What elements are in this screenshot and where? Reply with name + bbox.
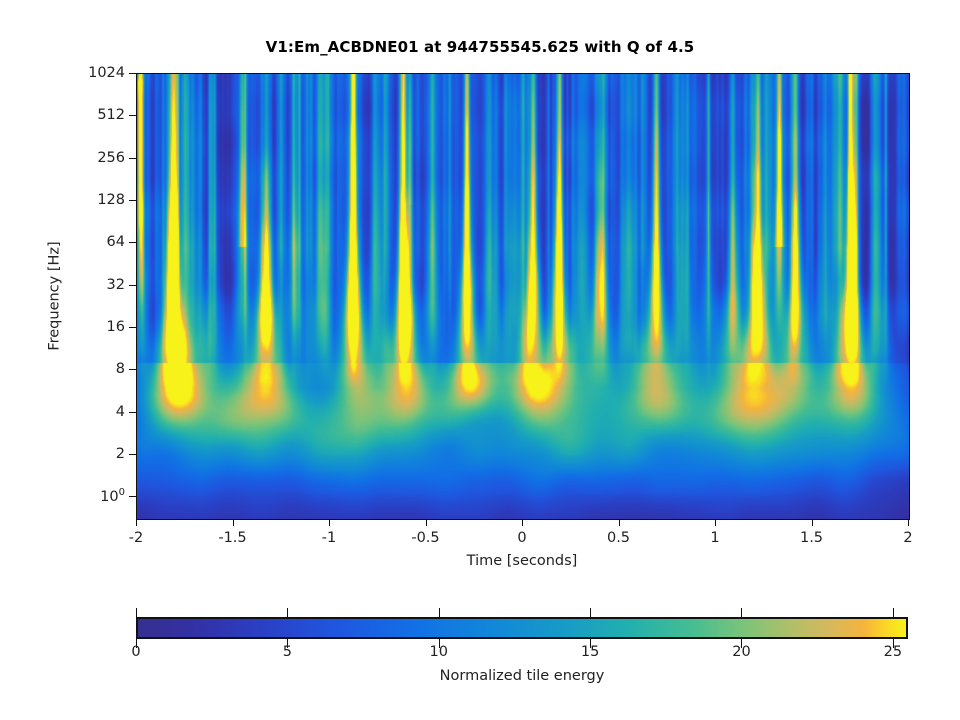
colorbar-title: Normalized tile energy [136, 668, 908, 684]
y-axis-tick [129, 369, 136, 370]
colorbar-tick [590, 608, 591, 617]
x-axis-tick-label: 0.5 [607, 530, 630, 546]
y-axis-tick-label: 16 [107, 319, 125, 335]
x-axis-tick [329, 519, 330, 526]
x-axis-tick-label: -0.5 [411, 530, 439, 546]
y-axis-tick [129, 200, 136, 201]
x-axis-tick [522, 519, 523, 526]
y-axis-tick [129, 412, 136, 413]
x-axis-tick-label: 2 [903, 530, 912, 546]
y-axis-tick [129, 327, 136, 328]
colorbar-tick [136, 608, 137, 617]
y-axis-tick-label: 64 [107, 234, 125, 250]
y-axis-tick-label: 1024 [88, 65, 125, 81]
colorbar-tick [439, 608, 440, 617]
x-axis-tick [233, 519, 234, 526]
y-axis-tick [129, 73, 136, 74]
y-axis-tick [129, 158, 136, 159]
colorbar-gradient [138, 619, 906, 637]
x-axis-tick [812, 519, 813, 526]
y-axis-tick-label: 4 [116, 404, 125, 420]
x-axis-tick-label: 0 [517, 530, 526, 546]
x-axis-tick-label: -1.5 [218, 530, 246, 546]
y-axis-label-text: Frequency [Hz] [47, 241, 63, 350]
x-axis-tick [619, 519, 620, 526]
y-axis-tick-label: 256 [97, 150, 125, 166]
x-axis-tick [715, 519, 716, 526]
spectrogram-image [137, 74, 909, 519]
x-axis-tick [908, 519, 909, 526]
chart-title: V1:Em_ACBDNE01 at 944755545.625 with Q o… [0, 38, 960, 56]
x-axis-tick-label: 1.5 [800, 530, 823, 546]
y-axis-tick [129, 242, 136, 243]
y-axis-tick [129, 115, 136, 116]
x-axis-tick [426, 519, 427, 526]
y-axis-tick-label: 512 [97, 107, 125, 123]
colorbar-tick-label: 5 [283, 644, 292, 660]
y-axis-tick [129, 454, 136, 455]
y-axis-tick-label: 32 [107, 277, 125, 293]
y-axis-tick-label: 8 [116, 361, 125, 377]
figure-root: V1:Em_ACBDNE01 at 944755545.625 with Q o… [0, 0, 960, 720]
colorbar-tick [741, 608, 742, 617]
colorbar-tick-label: 0 [131, 644, 140, 660]
y-axis-tick-label: 128 [97, 192, 125, 208]
y-axis-tick-label: 2 [116, 446, 125, 462]
x-axis-tick-label: -2 [129, 530, 143, 546]
x-axis-tick-label: 1 [710, 530, 719, 546]
y-axis-tick-label: 100 [100, 487, 125, 505]
colorbar-tick-label: 20 [732, 644, 750, 660]
x-axis-label: Time [seconds] [136, 553, 908, 569]
y-axis-tick [129, 496, 136, 497]
x-axis-tick-label: -1 [322, 530, 336, 546]
colorbar-tick-label: 25 [884, 644, 902, 660]
x-axis-tick [136, 519, 137, 526]
colorbar[interactable] [136, 617, 908, 639]
y-axis-label: Frequency [Hz] [44, 73, 66, 518]
colorbar-tick [287, 608, 288, 617]
spectrogram-plot-area[interactable] [136, 73, 910, 520]
y-axis-tick [129, 285, 136, 286]
colorbar-tick [893, 608, 894, 617]
colorbar-tick-label: 15 [581, 644, 599, 660]
colorbar-tick-label: 10 [430, 644, 448, 660]
